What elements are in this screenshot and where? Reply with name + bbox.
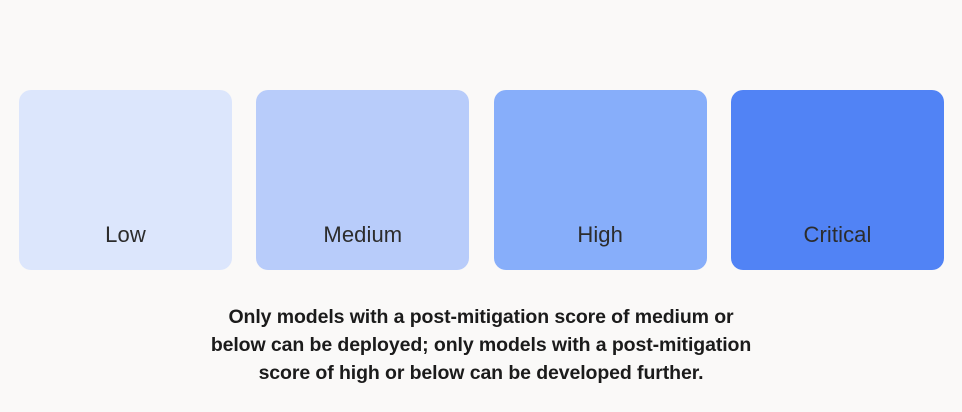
risk-scale-figure: Low Medium High Critical Only models wit… — [0, 0, 962, 412]
risk-level-high[interactable]: High — [494, 90, 707, 270]
risk-level-label-high: High — [577, 224, 623, 270]
risk-level-low[interactable]: Low — [19, 90, 232, 270]
caption-line-2: below can be deployed; only models with … — [0, 331, 962, 359]
caption-line-1: Only models with a post-mitigation score… — [0, 303, 962, 331]
risk-level-label-low: Low — [105, 224, 146, 270]
risk-level-critical[interactable]: Critical — [731, 90, 944, 270]
caption-line-3: score of high or below can be developed … — [0, 359, 962, 387]
caption-text: Only models with a post-mitigation score… — [0, 303, 962, 387]
risk-level-medium[interactable]: Medium — [256, 90, 469, 270]
risk-level-label-medium: Medium — [323, 224, 402, 270]
risk-level-label-critical: Critical — [803, 224, 871, 270]
risk-level-row: Low Medium High Critical — [19, 90, 944, 270]
